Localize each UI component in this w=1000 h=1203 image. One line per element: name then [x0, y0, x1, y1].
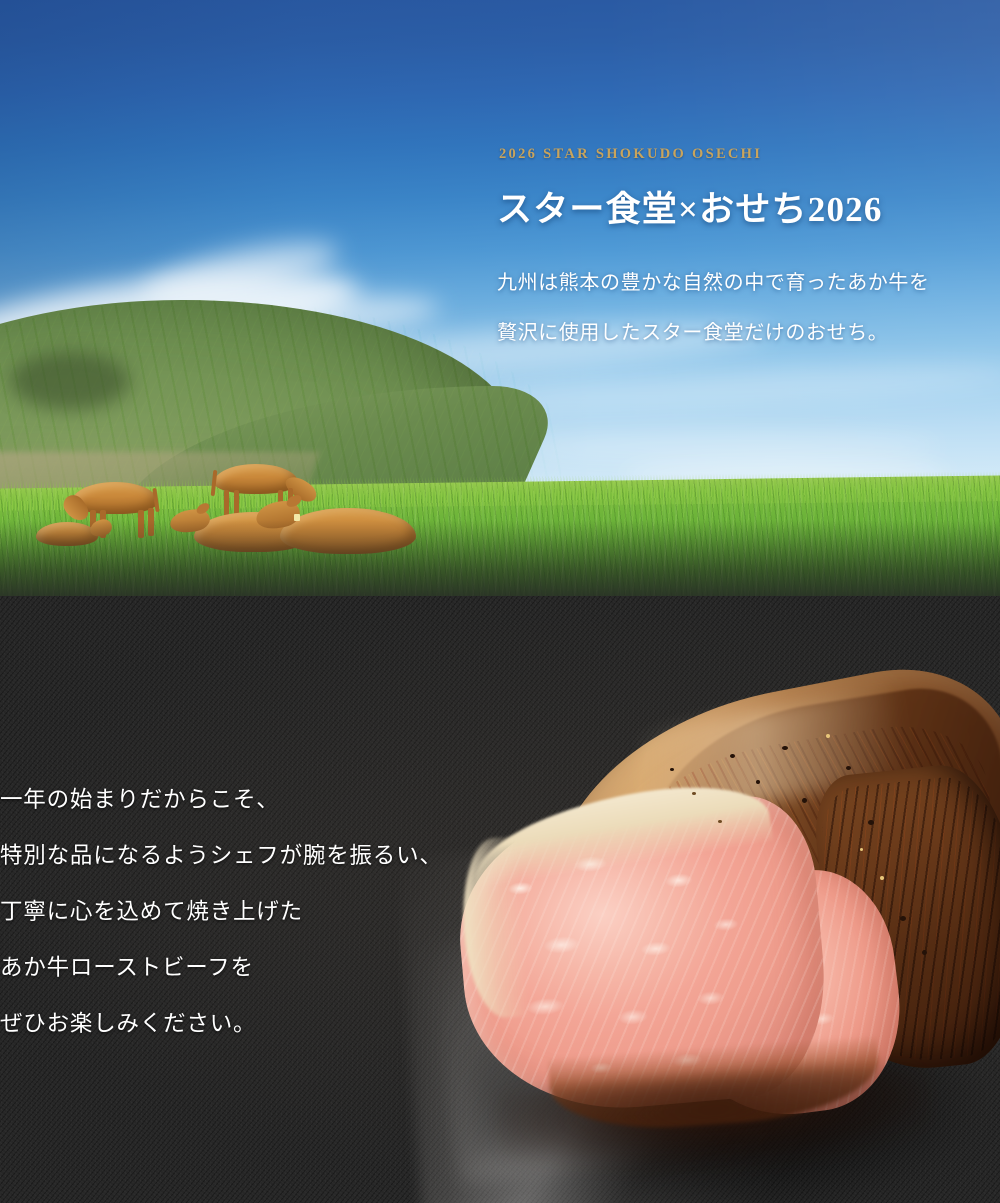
- pepper-speck: [880, 876, 884, 880]
- product-copy-line-1: 一年の始まりだからこそ、: [0, 772, 470, 828]
- beef-block: [430, 688, 1000, 1188]
- roast-beef-photo: [430, 688, 1000, 1203]
- page-root: 2026 STAR SHOKUDO OSECHI スター食堂×おせち2026 九…: [0, 0, 1000, 1203]
- product-copy-line-5: ぜひお楽しみください。: [0, 996, 470, 1052]
- hero-lead-paragraph: 九州は熊本の豊かな自然の中で育ったあか牛を 贅沢に使用したスター食堂だけのおせち…: [497, 258, 1000, 358]
- pepper-speck: [922, 950, 927, 955]
- product-copy-line-4: あか牛ローストビーフを: [0, 940, 470, 996]
- pepper-speck: [692, 792, 696, 795]
- product-copy-line-2: 特別な品になるようシェフが腕を振るい、: [0, 828, 470, 884]
- pepper-speck: [860, 848, 863, 851]
- pepper-speck: [782, 746, 788, 750]
- hero-copy-block: 2026 STAR SHOKUDO OSECHI スター食堂×おせち2026 九…: [497, 146, 1000, 358]
- product-copy-line-3: 丁寧に心を込めて焼き上げた: [0, 884, 470, 940]
- pepper-speck: [868, 820, 874, 825]
- product-copy-block: 一年の始まりだからこそ、 特別な品になるようシェフが腕を振るい、 丁寧に心を込め…: [0, 772, 470, 1052]
- pepper-speck: [730, 754, 735, 758]
- pepper-speck: [670, 768, 674, 771]
- pepper-speck: [900, 916, 906, 921]
- pepper-speck: [756, 780, 760, 784]
- pepper-speck: [846, 766, 851, 770]
- pepper-speck: [718, 820, 722, 823]
- hero-lead-line-1: 九州は熊本の豊かな自然の中で育ったあか牛を: [497, 258, 1000, 308]
- hero-section: 2026 STAR SHOKUDO OSECHI スター食堂×おせち2026 九…: [0, 0, 1000, 620]
- hero-eyebrow: 2026 STAR SHOKUDO OSECHI: [499, 146, 1000, 163]
- pepper-speck: [802, 798, 807, 803]
- pepper-speck: [826, 734, 830, 738]
- hero-lead-line-2: 贅沢に使用したスター食堂だけのおせち。: [497, 308, 1000, 358]
- page-title: スター食堂×おせち2026: [497, 181, 1000, 232]
- mountain-shadow-patch: [10, 352, 130, 410]
